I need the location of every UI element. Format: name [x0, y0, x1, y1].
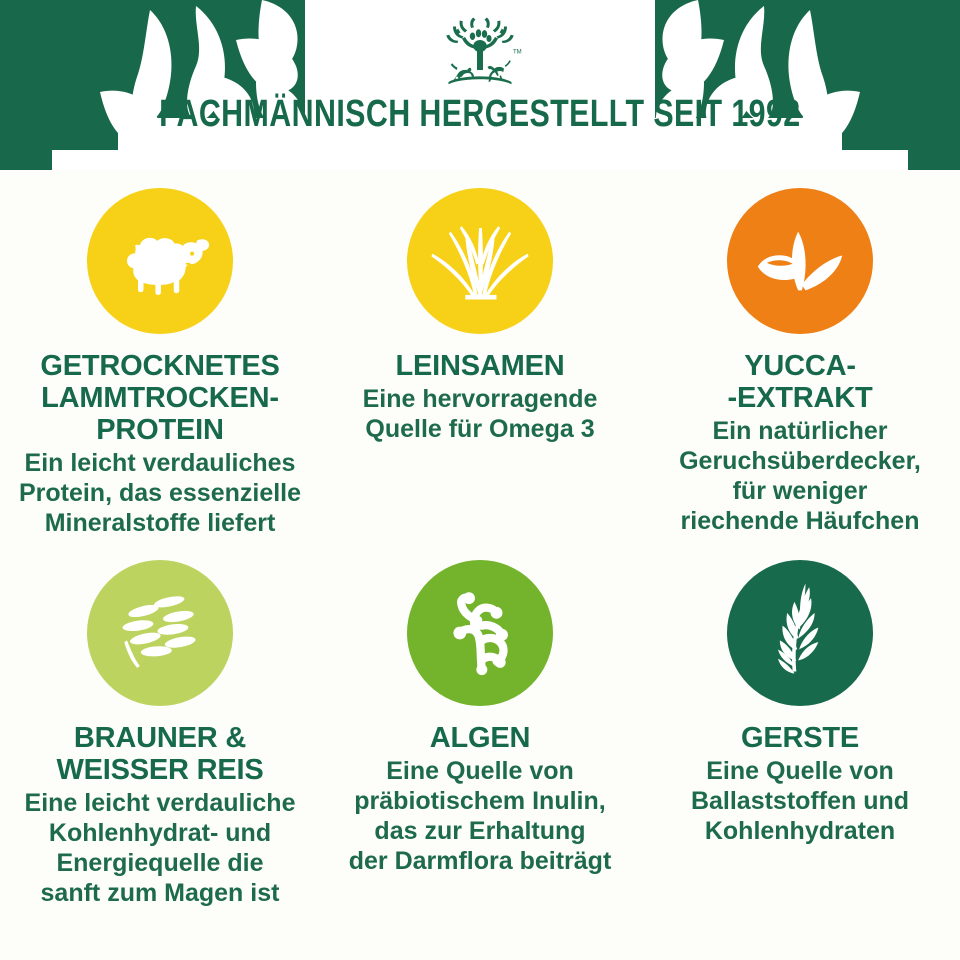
ingredient-title: GERSTE [741, 722, 859, 754]
ingredients-row-2: BRAUNER & WEISSER REIS Eine leicht verda… [0, 560, 960, 908]
ingredient-card-flaxseed[interactable]: LEINSAMEN Eine hervorragende Quelle für … [320, 188, 640, 538]
algae-icon [425, 578, 535, 688]
ingredient-card-lamb-protein[interactable]: GETROCKNETES LAMMTROCKEN- PROTEIN Ein le… [0, 188, 320, 538]
ingredient-description: Ein leicht verdauliches Protein, das ess… [19, 448, 301, 538]
barley-stalk-icon [745, 578, 855, 688]
ingredient-title: LEINSAMEN [396, 350, 565, 382]
ingredients-grid: GETROCKNETES LAMMTROCKEN- PROTEIN Ein le… [0, 170, 960, 908]
ingredient-title: GETROCKNETES LAMMTROCKEN- PROTEIN [40, 350, 279, 446]
badge-lamb-protein [87, 188, 233, 334]
ingredient-card-rice[interactable]: BRAUNER & WEISSER REIS Eine leicht verda… [0, 560, 320, 908]
ingredient-description: Eine Quelle von Ballaststoffen und Kohle… [691, 756, 909, 846]
ingredient-title: YUCCA- -EXTRAKT [727, 350, 872, 414]
tree-paw-cat-dog-logo-icon: TM [434, 16, 526, 88]
ingredient-card-yucca-extract[interactable]: YUCCA- -EXTRAKT Ein natürlicher Geruchsü… [640, 188, 960, 538]
badge-rice [87, 560, 233, 706]
brand-logo: TM [434, 16, 526, 88]
ingredient-card-algae[interactable]: ALGEN Eine Quelle von präbiotischem Inul… [320, 560, 640, 908]
ingredient-card-barley[interactable]: GERSTE Eine Quelle von Ballaststoffen un… [640, 560, 960, 908]
ingredient-description: Eine Quelle von präbiotischem Inulin, da… [349, 756, 612, 876]
ingredient-title: ALGEN [430, 722, 531, 754]
badge-barley [727, 560, 873, 706]
infographic-page: TM FACHMÄNNISCH HERGESTELLT SEIT 1992 [0, 0, 960, 960]
badge-algae [407, 560, 553, 706]
badge-yucca-extract [727, 188, 873, 334]
trademark-mark: TM [513, 50, 522, 56]
ingredient-description: Eine hervorragende Quelle für Omega 3 [363, 384, 598, 444]
flax-plant-icon [425, 206, 535, 316]
ingredients-row-1: GETROCKNETES LAMMTROCKEN- PROTEIN Ein le… [0, 188, 960, 538]
ingredient-title: BRAUNER & WEISSER REIS [56, 722, 263, 786]
rice-grains-icon [105, 578, 215, 688]
header-banner: TM FACHMÄNNISCH HERGESTELLT SEIT 1992 [0, 0, 960, 170]
ingredient-description: Eine leicht verdauliche Kohlenhydrat- un… [25, 788, 296, 908]
yucca-leaves-icon [745, 206, 855, 316]
page-title: FACHMÄNNISCH HERGESTELLT SEIT 1992 [159, 94, 800, 134]
ingredient-description: Ein natürlicher Geruchsüberdecker, für w… [679, 416, 921, 536]
badge-flaxseed [407, 188, 553, 334]
sheep-icon [105, 206, 215, 316]
